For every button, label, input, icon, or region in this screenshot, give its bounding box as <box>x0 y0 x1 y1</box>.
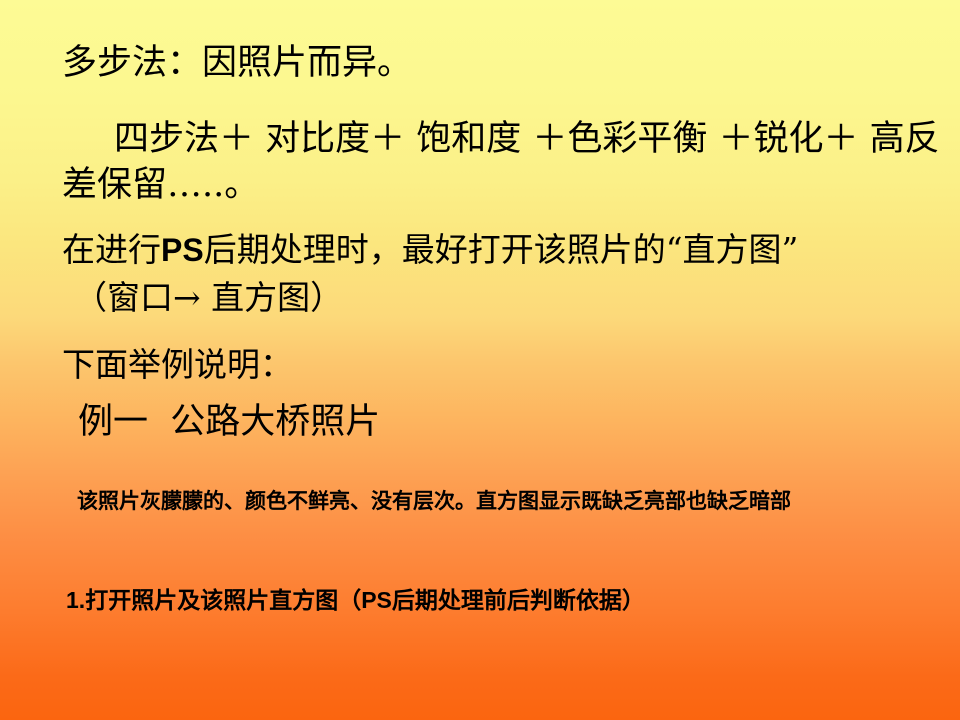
step-one-text-a: 打开照片及该照片直方图（ <box>85 588 361 614</box>
advice-rest-text: 后期处理时，最好打开该照片的“直方图” <box>204 230 799 269</box>
heading-example-one: 例一 公路大桥照片 <box>78 400 380 444</box>
step-number-label: 1. <box>66 587 85 613</box>
slide-canvas: 多步法：因照片而异。 四步法＋ 对比度＋ 饱和度 ＋色彩平衡 ＋锐化＋ 高反差保… <box>0 0 960 720</box>
step-one-text-b: 后期处理前后判断依据） <box>392 588 645 614</box>
paragraph-step-one: 1.打开照片及该照片直方图（PS后期处理前后判断依据） <box>66 584 946 617</box>
ps-label-step: PS <box>361 587 392 613</box>
advice-prefix-text: 在进行 <box>62 230 161 269</box>
heading-multistep-method: 多步法：因照片而异。 <box>62 41 412 85</box>
paragraph-histogram-advice: 在进行PS后期处理时，最好打开该照片的“直方图”（窗口→ 直方图） <box>62 226 952 321</box>
photo-description-text: 该照片灰朦朦的、颜色不鲜亮、没有层次。直方图显示既缺乏亮部也缺乏暗部 <box>77 489 791 513</box>
ps-label: PS <box>161 232 204 268</box>
paragraph-example-intro: 下面举例说明： <box>62 344 293 386</box>
menu-path-window-histogram: （窗口→ 直方图） <box>62 274 952 321</box>
step-formula-text: 四步法＋ 对比度＋ 饱和度 ＋色彩平衡 ＋锐化＋ 高反差保留…..。 <box>62 119 940 205</box>
paragraph-photo-description: 该照片灰朦朦的、颜色不鲜亮、没有层次。直方图显示既缺乏亮部也缺乏暗部 <box>55 484 945 518</box>
paragraph-step-formula: 四步法＋ 对比度＋ 饱和度 ＋色彩平衡 ＋锐化＋ 高反差保留…..。 <box>62 116 942 208</box>
